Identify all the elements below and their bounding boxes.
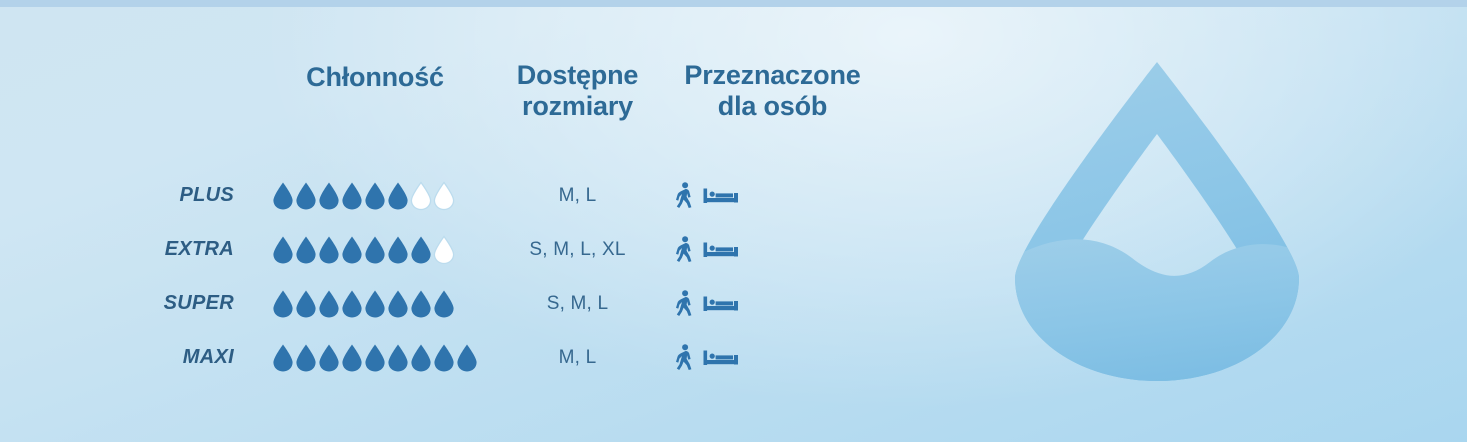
drop-filled-icon (272, 181, 294, 211)
intended-persons (665, 182, 880, 209)
drop-filled-icon (433, 343, 455, 373)
walking-person-icon (675, 290, 694, 317)
drop-filled-icon (272, 289, 294, 319)
drop-filled-icon (295, 289, 317, 319)
table-header-row: Chłonność Dostępne rozmiary Przeznaczone… (70, 60, 1000, 123)
row-label-maxi: MAXI (70, 346, 260, 369)
drop-filled-icon (318, 289, 340, 319)
drop-filled-icon (295, 181, 317, 211)
drop-filled-icon (318, 235, 340, 265)
drop-filled-icon (341, 343, 363, 373)
row-label-plus: PLUS (70, 184, 260, 207)
header-cell-sizes: Dostępne rozmiary (490, 60, 665, 123)
drop-empty-icon (410, 181, 432, 211)
intended-persons (665, 290, 880, 317)
drop-filled-icon (318, 181, 340, 211)
drop-filled-icon (410, 343, 432, 373)
header-persons-line2: dla osób (665, 91, 880, 122)
drop-empty-icon (433, 235, 455, 265)
header-sizes-line1: Dostępne (490, 60, 665, 91)
table-row: EXTRAS, M, L, XL (70, 223, 1000, 277)
header-cell-persons: Przeznaczone dla osób (665, 60, 880, 123)
drop-filled-icon (272, 343, 294, 373)
drop-filled-icon (364, 235, 386, 265)
header-sizes-line2: rozmiary (490, 91, 665, 122)
drop-filled-icon (387, 181, 409, 211)
bed-person-icon (703, 236, 739, 263)
drop-filled-icon (387, 343, 409, 373)
water-drop-icon (1012, 56, 1302, 386)
table-row: PLUSM, L (70, 169, 1000, 223)
absorbency-infographic: Chłonność Dostępne rozmiary Przeznaczone… (0, 0, 1467, 442)
drop-filled-icon (387, 235, 409, 265)
available-sizes: S, M, L, XL (490, 239, 665, 261)
drop-filled-icon (272, 235, 294, 265)
drop-filled-icon (410, 235, 432, 265)
table-row: MAXIM, L (70, 331, 1000, 385)
table-row: SUPERS, M, L (70, 277, 1000, 331)
available-sizes: M, L (490, 347, 665, 369)
bed-person-icon (703, 182, 739, 209)
available-sizes: S, M, L (490, 293, 665, 315)
absorbency-table: Chłonność Dostępne rozmiary Przeznaczone… (70, 60, 1000, 385)
table-body: PLUSM, LEXTRAS, M, L, XLSUPERS, M, LMAXI… (70, 169, 1000, 385)
walking-person-icon (675, 344, 694, 371)
drop-filled-icon (295, 235, 317, 265)
header-persons-line1: Przeznaczone (665, 60, 880, 91)
intended-persons (665, 344, 880, 371)
drop-filled-icon (364, 181, 386, 211)
drop-filled-icon (364, 289, 386, 319)
drop-filled-icon (433, 289, 455, 319)
drop-filled-icon (387, 289, 409, 319)
absorbency-rating (260, 181, 490, 211)
drop-filled-icon (295, 343, 317, 373)
drop-filled-icon (318, 343, 340, 373)
drop-filled-icon (341, 289, 363, 319)
drop-filled-icon (341, 181, 363, 211)
bed-person-icon (703, 344, 739, 371)
available-sizes: M, L (490, 185, 665, 207)
bed-person-icon (703, 290, 739, 317)
drop-filled-icon (456, 343, 478, 373)
intended-persons (665, 236, 880, 263)
walking-person-icon (675, 182, 694, 209)
drop-filled-icon (410, 289, 432, 319)
drop-empty-icon (433, 181, 455, 211)
walking-person-icon (675, 236, 694, 263)
row-label-extra: EXTRA (70, 238, 260, 261)
drop-filled-icon (364, 343, 386, 373)
top-accent-strip (0, 0, 1467, 7)
row-label-super: SUPER (70, 292, 260, 315)
absorbency-rating (260, 343, 490, 373)
absorbency-rating (260, 289, 490, 319)
header-cell-absorbency: Chłonność (260, 60, 490, 93)
absorbency-rating (260, 235, 490, 265)
drop-filled-icon (341, 235, 363, 265)
